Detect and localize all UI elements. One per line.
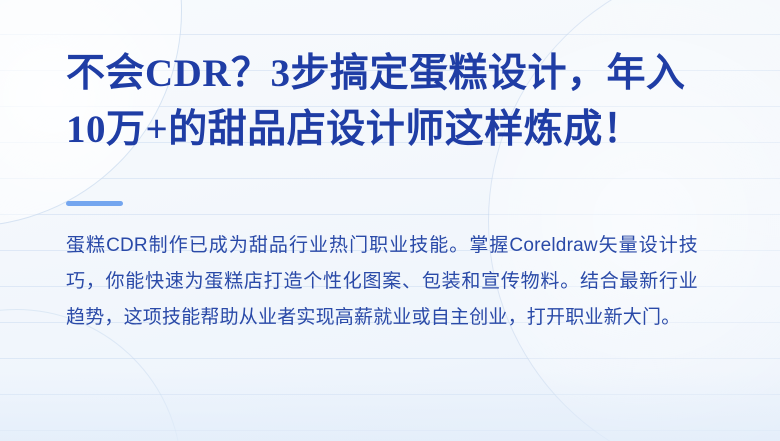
page-title: 不会CDR？3步搞定蛋糕设计，年入10万+的甜品店设计师这样炼成！ xyxy=(66,46,706,158)
article-banner: 不会CDR？3步搞定蛋糕设计，年入10万+的甜品店设计师这样炼成！ 蛋糕CDR制… xyxy=(0,0,780,441)
content-container: 不会CDR？3步搞定蛋糕设计，年入10万+的甜品店设计师这样炼成！ 蛋糕CDR制… xyxy=(66,0,706,441)
article-summary: 蛋糕CDR制作已成为甜品行业热门职业技能。掌握Coreldraw矢量设计技巧，你… xyxy=(66,228,698,336)
title-divider xyxy=(66,201,123,206)
